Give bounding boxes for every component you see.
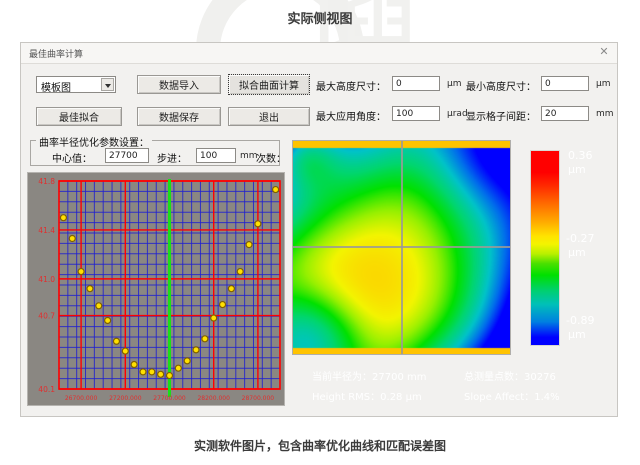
template-select[interactable]: 模板图 [36,76,116,93]
max-angle-input[interactable] [392,106,440,121]
colorbar-max-value: 0.36 [568,150,593,162]
residual-error-heatmap[interactable] [292,140,511,355]
max-angle-unit: μrad [447,109,468,119]
slope-affect-status: Slope Affect：1.4% [464,388,560,403]
fit-surface-button[interactable]: 拟合曲面计算 [228,74,310,95]
colorbar-max-unit: μm [568,164,586,176]
dialog-title: 最佳曲率计算 [29,47,83,60]
svg-text:26700.000: 26700.000 [65,395,98,402]
page-title: 实际侧视图 [0,8,640,27]
chevron-down-icon[interactable] [101,78,114,91]
curvature-scatter-svg: 40.140.741.041.441.826700.00027200.00027… [28,173,284,405]
curvature-optimization-chart[interactable]: 40.140.741.041.441.826700.00027200.00027… [27,172,285,406]
current-radius-status: 当前半径为：27700 mm [312,368,426,383]
total-points-status: 总测量点数：30276 [464,368,556,383]
import-data-button[interactable]: 数据导入 [137,75,221,94]
grid-spacing-label: 显示格子间距： [466,108,536,123]
colorbar [530,150,560,346]
max-height-unit: μm [447,79,462,89]
svg-text:41.0: 41.0 [38,275,55,284]
center-value-label: 中心值： [52,150,92,165]
colorbar-mid-unit: μm [568,247,586,259]
svg-text:28200.000: 28200.000 [197,395,230,402]
exit-button[interactable]: 退出 [228,107,310,126]
step-label: 步进： [157,150,187,165]
best-fit-button[interactable]: 最佳拟合 [36,107,122,126]
dialog-titlebar: 最佳曲率计算 ✕ [21,43,617,64]
min-height-label: 最小高度尺寸： [466,78,536,93]
curvature-param-group-title: 曲率半径优化参数设置： [36,134,152,149]
max-height-label: 最大高度尺寸： [316,78,386,93]
svg-text:40.7: 40.7 [38,312,55,321]
figure-caption: 实测软件图片，包含曲率优化曲线和匹配误差图 [0,437,640,454]
min-height-input[interactable] [541,76,589,91]
svg-text:41.8: 41.8 [38,177,55,186]
count-label: 次数： [256,150,286,165]
grid-spacing-input[interactable] [541,106,589,121]
svg-text:41.4: 41.4 [38,226,55,235]
close-icon[interactable]: ✕ [597,45,611,59]
svg-text:28700.000: 28700.000 [242,395,275,402]
svg-text:27200.000: 27200.000 [109,395,142,402]
min-height-unit: μm [596,79,611,89]
step-input[interactable] [196,148,236,163]
max-height-input[interactable] [392,76,440,91]
grid-spacing-unit: mm [596,109,614,119]
heatmap-crosshair-horizontal [293,246,510,248]
height-rms-status: Height RMS：0.28 μm [312,388,422,403]
step-unit: mm [240,151,258,161]
status-panel: 当前半径为：27700 mm 总测量点数：30276 Height RMS：0.… [292,358,592,400]
save-data-button[interactable]: 数据保存 [137,107,221,126]
colorbar-mid-value: -0.27 [566,233,594,245]
template-select-value: 模板图 [41,79,71,94]
colorbar-min-unit: μm [568,329,586,341]
max-angle-label: 最大应用角度： [316,108,386,123]
colorbar-min-value: -0.89 [566,315,594,327]
center-value-input[interactable] [105,148,149,163]
svg-text:40.1: 40.1 [38,385,55,394]
svg-text:27700.000: 27700.000 [153,395,186,402]
